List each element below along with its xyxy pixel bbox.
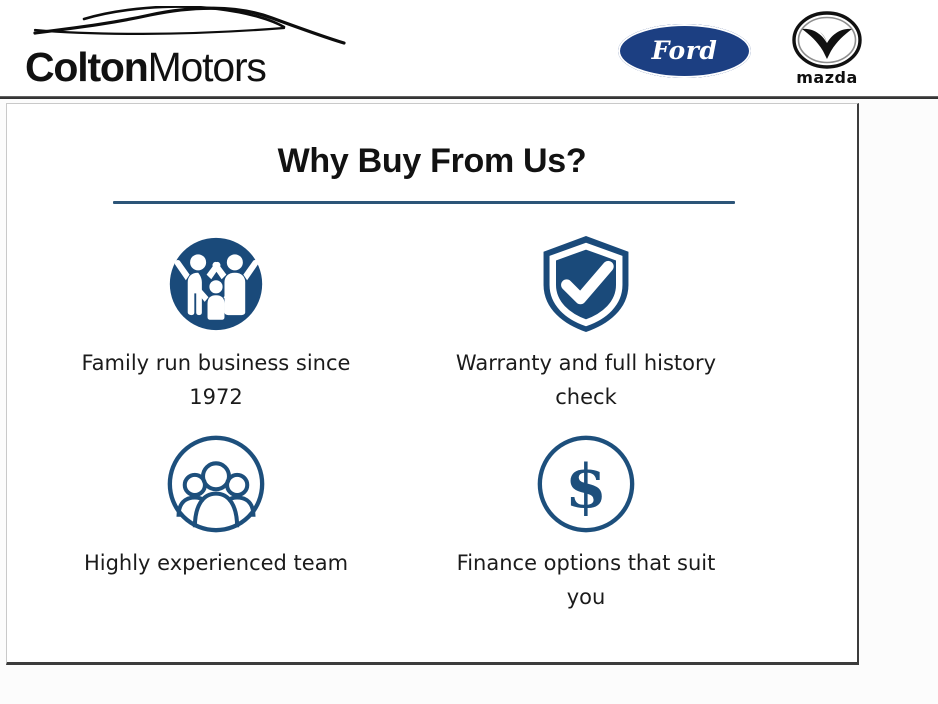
feature-label: Finance options that suit you [436, 546, 736, 614]
feature-label: Warranty and full history check [436, 346, 736, 414]
feature-label: Highly experienced team [71, 546, 361, 580]
dealer-logo[interactable]: ColtonMotors [22, 6, 352, 92]
car-silhouette-icon [22, 6, 352, 46]
dealer-name: ColtonMotors [25, 42, 266, 92]
ford-wordmark: Ford [618, 24, 751, 78]
svg-text:$: $ [565, 452, 606, 522]
feature-grid: Family run business since 1972 Warranty … [31, 232, 771, 632]
dealer-name-bold: Colton [25, 44, 148, 90]
feature-label: Family run business since 1972 [71, 346, 361, 414]
mazda-wing-icon [792, 11, 862, 69]
family-group-icon [163, 232, 269, 336]
dealer-name-light: Motors [148, 44, 266, 90]
shield-check-icon [533, 232, 639, 336]
header-divider [0, 96, 938, 99]
title-divider [113, 201, 735, 204]
feature-item-finance: $ Finance options that suit you [401, 432, 771, 632]
slide-page: ColtonMotors Ford mazda Why Buy From Us? [0, 0, 938, 704]
why-buy-panel: Why Buy From Us? [6, 103, 859, 665]
mazda-logo[interactable]: mazda [783, 11, 871, 91]
header-bar: ColtonMotors Ford mazda [0, 0, 938, 97]
feature-item-family: Family run business since 1972 [31, 232, 401, 432]
team-people-icon [163, 432, 269, 536]
dollar-sign-icon: $ [533, 432, 639, 536]
feature-item-team: Highly experienced team [31, 432, 401, 632]
ford-logo[interactable]: Ford [618, 24, 751, 78]
page-title: Why Buy From Us? [7, 142, 857, 181]
mazda-wordmark: mazda [783, 68, 871, 87]
feature-item-warranty: Warranty and full history check [401, 232, 771, 432]
